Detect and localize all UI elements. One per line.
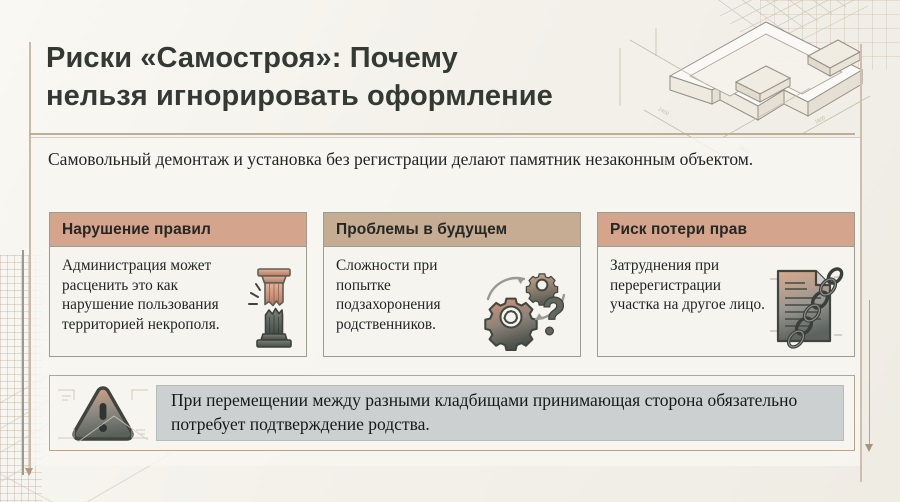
- lead-paragraph: Самовольный демонтаж и установка без рег…: [48, 147, 808, 172]
- alert-icon-wrap: [50, 376, 156, 450]
- card-future-problems[interactable]: Проблемы в будущем Сложности при попытке…: [323, 212, 581, 357]
- chained-document-icon: [764, 261, 846, 351]
- card-text: Затруднения при перерегистрации участка …: [610, 256, 765, 315]
- svg-text:2400: 2400: [657, 107, 670, 118]
- title-line-2: нельзя игнорировать оформление: [46, 80, 553, 112]
- card-body: Администрация может расценить это как на…: [50, 247, 306, 357]
- alert-text: При перемещении между разными кладбищами…: [171, 389, 829, 437]
- frame-rule-left-secondary: [22, 250, 24, 475]
- alert-text-box: При перемещении между разными кладбищами…: [156, 385, 844, 441]
- slide-canvas: 2400 3600 1800 Риски «Самостроя»: Почему…: [0, 0, 900, 502]
- card-header-label: Нарушение правил: [50, 213, 306, 247]
- card-risk-of-losing-rights[interactable]: Риск потери прав Затруднения при перерег…: [597, 212, 855, 357]
- cards-row: Нарушение правил Администрация может рас…: [49, 212, 855, 357]
- card-violation-of-rules[interactable]: Нарушение правил Администрация может рас…: [49, 212, 307, 357]
- gears-question-icon: [480, 259, 572, 351]
- card-text: Сложности при попытке подзахоронения род…: [336, 256, 486, 335]
- dimension-arrow-right: [865, 444, 873, 452]
- card-text: Администрация может расценить это как на…: [62, 256, 237, 335]
- svg-text:1800: 1800: [814, 115, 827, 126]
- blueprint-marks-behind-icon: [54, 382, 152, 446]
- slide-header: Риски «Самостроя»: Почему нельзя игнорир…: [46, 40, 646, 115]
- frame-rule-right-secondary: [869, 300, 870, 448]
- card-header-label: Проблемы в будущем: [324, 213, 580, 247]
- header-divider: [29, 133, 855, 135]
- card-header-label: Риск потери прав: [598, 213, 854, 247]
- title-line-1: Риски «Самостроя»: Почему: [46, 42, 458, 74]
- broken-column-icon: [248, 263, 298, 351]
- card-body: Затруднения при перерегистрации участка …: [598, 247, 854, 357]
- page-title: Риски «Самостроя»: Почему нельзя игнорир…: [46, 40, 646, 115]
- blueprint-grid-topright: [760, 0, 900, 70]
- alert-banner: При перемещении между разными кладбищами…: [49, 375, 855, 451]
- dimension-arrow-left: [25, 468, 33, 476]
- card-body: Сложности при попытке подзахоронения род…: [324, 247, 580, 357]
- frame-rule-right: [860, 44, 862, 482]
